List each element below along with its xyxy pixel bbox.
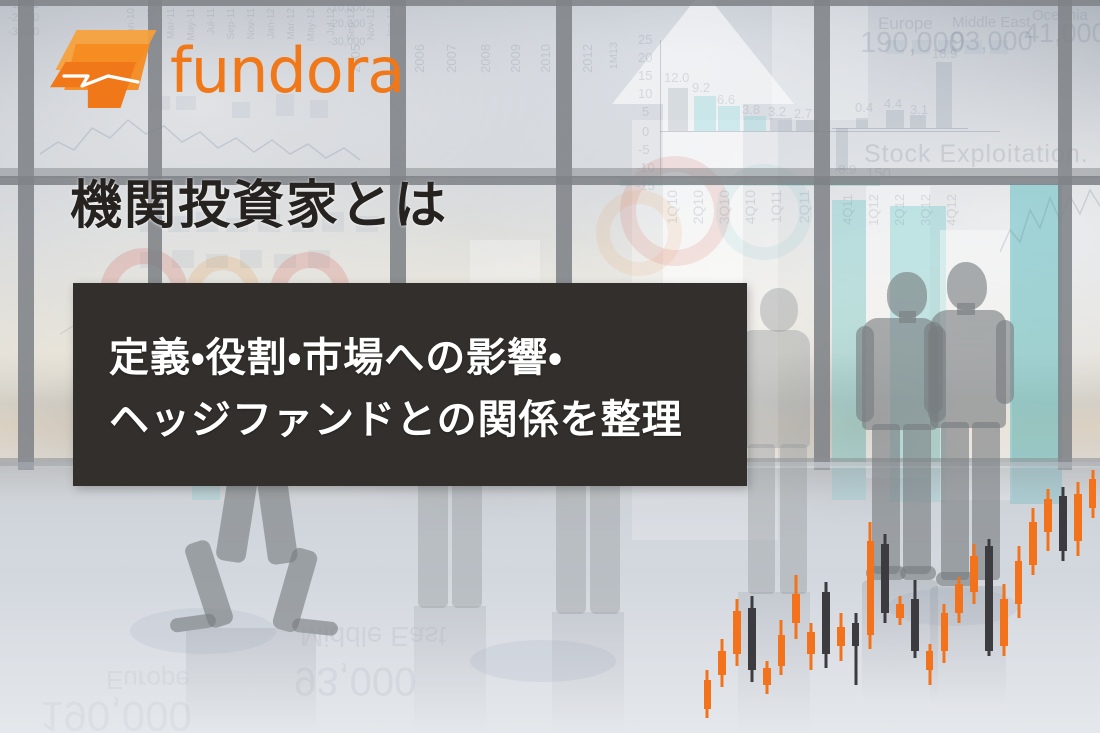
ghost-bar-label: 4.4 — [884, 96, 902, 111]
lightning-bolt-icon — [62, 72, 142, 90]
candlestick — [926, 455, 934, 733]
candlestick — [1074, 455, 1082, 733]
candlestick — [822, 455, 830, 733]
fundora-logo[interactable]: fundora — [48, 28, 404, 114]
candlestick-body — [881, 544, 889, 613]
ghost-line-chart — [1000, 180, 1100, 270]
ghost-region-value-middle-east: 93,000 — [950, 26, 1033, 57]
candlestick — [1029, 455, 1037, 733]
candlestick — [1044, 455, 1052, 733]
candlestick — [867, 455, 875, 733]
candlestick-body — [970, 556, 978, 592]
candlestick-body — [763, 668, 771, 685]
candlestick — [837, 455, 845, 733]
fundora-wordmark: fundora — [170, 40, 404, 102]
candlestick-body — [807, 632, 815, 653]
page-title: 機関投資家とは — [70, 163, 448, 238]
fundora-chevron-bolt-icon — [48, 28, 156, 114]
candlestick — [970, 455, 978, 733]
candlestick — [1000, 455, 1008, 733]
candlestick-body — [778, 635, 786, 666]
candlestick-body — [985, 546, 993, 651]
candlestick-body — [748, 608, 756, 670]
ghost-donut-chart — [596, 190, 682, 276]
candlestick — [1059, 455, 1067, 733]
candlestick-body — [1059, 496, 1067, 551]
candlestick — [881, 455, 889, 733]
candlestick — [718, 455, 726, 733]
window-mullion — [18, 0, 34, 470]
candlestick-body — [1044, 499, 1052, 532]
candlestick — [896, 455, 904, 733]
candlestick-body — [837, 627, 845, 646]
candlestick-body — [718, 651, 726, 675]
candlestick-body — [1074, 494, 1082, 542]
candlestick-body — [1015, 561, 1023, 604]
candlestick — [807, 455, 815, 733]
candlestick — [778, 455, 786, 733]
candlestick — [748, 455, 756, 733]
candlestick-body — [1029, 522, 1037, 565]
candlestick-body — [911, 599, 919, 652]
candlestick-body — [704, 680, 712, 709]
subtitle-line-2: ヘッジファンドとの関係を整理 — [109, 389, 747, 451]
candlestick — [733, 455, 741, 733]
candlestick-body — [792, 594, 800, 623]
ghost-floor-region-name: Europe — [106, 664, 190, 695]
candlestick-body — [867, 541, 875, 634]
candlestick-body — [941, 613, 949, 651]
candlestick-body — [896, 604, 904, 618]
candlestick — [763, 455, 771, 733]
ghost-caption: Stock Exploitation. — [864, 140, 1089, 169]
ghost-line-chart — [40, 108, 360, 168]
hero-banner: 0.4 4.4 3.1 18.9 -8.9 150 Europe 190,000… — [0, 0, 1100, 733]
candlestick-body — [1089, 479, 1097, 508]
window-mullion — [814, 0, 830, 470]
candlestick-chart — [700, 455, 1100, 733]
window-mullion — [1058, 0, 1072, 470]
subtitle-panel: 定義・役割・市場への影響・ ヘッジファンドとの関係を整理 — [73, 283, 747, 486]
candlestick — [955, 455, 963, 733]
candlestick — [985, 455, 993, 733]
ghost-floor-region-value: 190,000 — [40, 692, 192, 733]
candlestick — [1015, 455, 1023, 733]
candlestick — [792, 455, 800, 733]
candlestick-body — [1000, 599, 1008, 647]
candlestick-body — [733, 611, 741, 654]
candlestick — [941, 455, 949, 733]
candlestick — [704, 455, 712, 733]
candlestick-body — [852, 623, 860, 647]
candlestick — [911, 455, 919, 733]
window-mullion — [0, 0, 1100, 6]
ghost-bar-label: 3.1 — [910, 102, 928, 117]
candlestick-body — [822, 592, 830, 654]
subtitle-line-1: 定義・役割・市場への影響・ — [109, 327, 747, 389]
candlestick — [1089, 455, 1097, 733]
candlestick-body — [955, 584, 963, 613]
candlestick — [852, 455, 860, 733]
candlestick-body — [926, 651, 934, 670]
